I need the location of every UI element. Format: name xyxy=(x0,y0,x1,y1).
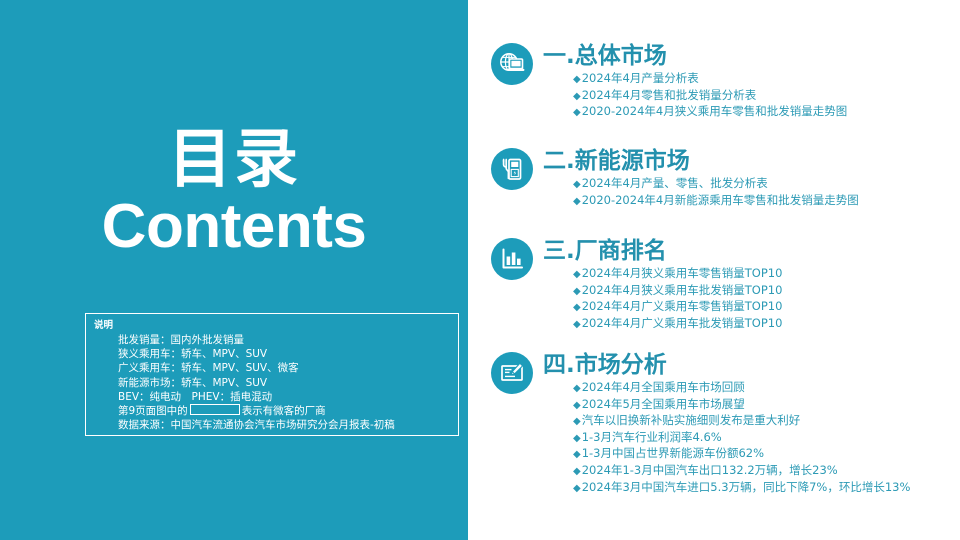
section-heading: 三.厂商排名 xyxy=(543,238,960,265)
section-bullet-list: ◆2024年4月产量分析表 ◆2024年4月零售和批发销量分析表 ◆2020-2… xyxy=(543,71,960,121)
bullet-item[interactable]: ◆2024年3月中国汽车进口5.3万辆，同比下降7%，环比增长13% xyxy=(573,480,960,497)
note-line-source: 数据来源：中国汽车流通协会汽车市场研究分会月报表-初稿 xyxy=(118,418,452,432)
charging-station-icon xyxy=(491,148,533,190)
bullet-label: 汽车以旧换新补贴实施细则发布是重大利好 xyxy=(582,413,801,427)
section-body: 二.新能源市场 ◆2024年4月产量、零售、批发分析表 ◆2020-2024年4… xyxy=(543,148,960,209)
bullet-item[interactable]: ◆2024年4月广义乘用车批发销量TOP10 xyxy=(573,316,960,333)
bullet-label: 2024年4月广义乘用车批发销量TOP10 xyxy=(582,316,783,330)
toc-section-manufacturer-ranking[interactable]: 三.厂商排名 ◆2024年4月狭义乘用车零售销量TOP10 ◆2024年4月狭义… xyxy=(491,238,960,332)
bar-chart-icon xyxy=(491,238,533,280)
bullet-item[interactable]: ◆2024年5月全国乘用车市场展望 xyxy=(573,397,960,414)
globe-laptop-icon xyxy=(491,43,533,85)
toc-section-market-analysis[interactable]: 四.市场分析 ◆2024年4月全国乘用车市场回顾 ◆2024年5月全国乘用车市场… xyxy=(491,352,960,496)
bullet-label: 2024年4月狭义乘用车零售销量TOP10 xyxy=(582,266,783,280)
bullet-item[interactable]: ◆汽车以旧换新补贴实施细则发布是重大利好 xyxy=(573,413,960,430)
diamond-bullet-icon: ◆ xyxy=(573,483,581,494)
bullet-item[interactable]: ◆2024年4月产量分析表 xyxy=(573,71,960,88)
section-bullet-list: ◆2024年4月产量、零售、批发分析表 ◆2020-2024年4月新能源乘用车零… xyxy=(543,176,960,209)
diamond-bullet-icon: ◆ xyxy=(573,91,581,102)
section-heading: 四.市场分析 xyxy=(543,352,960,379)
diamond-bullet-icon: ◆ xyxy=(573,302,581,313)
note-line-with-blank: 第9页面图中的表示有微客的厂商 xyxy=(118,404,452,418)
section-body: 四.市场分析 ◆2024年4月全国乘用车市场回顾 ◆2024年5月全国乘用车市场… xyxy=(543,352,960,496)
bullet-label: 2024年5月全国乘用车市场展望 xyxy=(582,397,745,411)
toc-panel: 一.总体市场 ◆2024年4月产量分析表 ◆2024年4月零售和批发销量分析表 … xyxy=(468,0,960,540)
note-line: 狭义乘用车：轿车、MPV、SUV xyxy=(118,347,452,361)
note-text-before-blank: 第9页面图中的 xyxy=(118,405,188,417)
bullet-item[interactable]: ◆2024年1-3月中国汽车出口132.2万辆，增长23% xyxy=(573,463,960,480)
toc-section-new-energy-market[interactable]: 二.新能源市场 ◆2024年4月产量、零售、批发分析表 ◆2020-2024年4… xyxy=(491,148,960,209)
document-pen-icon xyxy=(491,352,533,394)
bullet-item[interactable]: ◆2024年4月广义乘用车零售销量TOP10 xyxy=(573,299,960,316)
diamond-bullet-icon: ◆ xyxy=(573,269,581,280)
diamond-bullet-icon: ◆ xyxy=(573,383,581,394)
slide-canvas: 目录 Contents 说明 批发销量：国内外批发销量 狭义乘用车：轿车、MPV… xyxy=(0,0,960,540)
note-line: 广义乘用车：轿车、MPV、SUV、微客 xyxy=(118,361,452,375)
note-heading: 说明 xyxy=(94,319,452,332)
bullet-item[interactable]: ◆2024年4月狭义乘用车零售销量TOP10 xyxy=(573,266,960,283)
section-bullet-list: ◆2024年4月全国乘用车市场回顾 ◆2024年5月全国乘用车市场展望 ◆汽车以… xyxy=(543,380,960,496)
bullet-label: 2024年3月中国汽车进口5.3万辆，同比下降7%，环比增长13% xyxy=(582,480,911,494)
page-title-english: Contents xyxy=(0,191,468,262)
bullet-item[interactable]: ◆2024年4月全国乘用车市场回顾 xyxy=(573,380,960,397)
section-body: 三.厂商排名 ◆2024年4月狭义乘用车零售销量TOP10 ◆2024年4月狭义… xyxy=(543,238,960,332)
diamond-bullet-icon: ◆ xyxy=(573,466,581,477)
bullet-label: 2024年4月产量、零售、批发分析表 xyxy=(582,176,768,190)
bullet-item[interactable]: ◆1-3月中国占世界新能源车份额62% xyxy=(573,446,960,463)
bullet-item[interactable]: ◆2020-2024年4月新能源乘用车零售和批发销量走势图 xyxy=(573,193,960,210)
note-line: 新能源市场：轿车、MPV、SUV xyxy=(118,376,452,390)
bullet-item[interactable]: ◆2020-2024年4月狭义乘用车零售和批发销量走势图 xyxy=(573,104,960,121)
bullet-label: 2024年4月广义乘用车零售销量TOP10 xyxy=(582,299,783,313)
bullet-label: 1-3月中国占世界新能源车份额62% xyxy=(582,446,764,460)
note-line-list: 批发销量：国内外批发销量 狭义乘用车：轿车、MPV、SUV 广义乘用车：轿车、M… xyxy=(94,333,452,432)
bullet-label: 1-3月汽车行业利润率4.6% xyxy=(582,430,722,444)
bullet-label: 2020-2024年4月新能源乘用车零售和批发销量走势图 xyxy=(582,193,859,207)
bullet-item[interactable]: ◆2024年4月狭义乘用车批发销量TOP10 xyxy=(573,283,960,300)
section-body: 一.总体市场 ◆2024年4月产量分析表 ◆2024年4月零售和批发销量分析表 … xyxy=(543,43,960,121)
bullet-item[interactable]: ◆1-3月汽车行业利润率4.6% xyxy=(573,430,960,447)
diamond-bullet-icon: ◆ xyxy=(573,416,581,427)
diamond-bullet-icon: ◆ xyxy=(573,400,581,411)
diamond-bullet-icon: ◆ xyxy=(573,319,581,330)
diamond-bullet-icon: ◆ xyxy=(573,433,581,444)
diamond-bullet-icon: ◆ xyxy=(573,196,581,207)
legend-note-box: 说明 批发销量：国内外批发销量 狭义乘用车：轿车、MPV、SUV 广义乘用车：轿… xyxy=(85,313,459,436)
bullet-label: 2024年1-3月中国汽车出口132.2万辆，增长23% xyxy=(582,463,838,477)
diamond-bullet-icon: ◆ xyxy=(573,449,581,460)
section-bullet-list: ◆2024年4月狭义乘用车零售销量TOP10 ◆2024年4月狭义乘用车批发销量… xyxy=(543,266,960,332)
diamond-bullet-icon: ◆ xyxy=(573,107,581,118)
blank-placeholder-box xyxy=(190,404,240,415)
page-title-chinese: 目录 xyxy=(0,128,468,193)
diamond-bullet-icon: ◆ xyxy=(573,286,581,297)
note-line: 批发销量：国内外批发销量 xyxy=(118,333,452,347)
section-heading: 一.总体市场 xyxy=(543,43,960,70)
bullet-item[interactable]: ◆2024年4月产量、零售、批发分析表 xyxy=(573,176,960,193)
note-text-after-blank: 表示有微客的厂商 xyxy=(242,405,326,417)
toc-section-overall-market[interactable]: 一.总体市场 ◆2024年4月产量分析表 ◆2024年4月零售和批发销量分析表 … xyxy=(491,43,960,121)
bullet-item[interactable]: ◆2024年4月零售和批发销量分析表 xyxy=(573,88,960,105)
left-title-panel: 目录 Contents 说明 批发销量：国内外批发销量 狭义乘用车：轿车、MPV… xyxy=(0,0,468,540)
diamond-bullet-icon: ◆ xyxy=(573,179,581,190)
section-heading: 二.新能源市场 xyxy=(543,148,960,175)
note-line: BEV：纯电动 PHEV：插电混动 xyxy=(118,390,452,404)
diamond-bullet-icon: ◆ xyxy=(573,74,581,85)
bullet-label: 2024年4月全国乘用车市场回顾 xyxy=(582,380,745,394)
bullet-label: 2024年4月狭义乘用车批发销量TOP10 xyxy=(582,283,783,297)
title-block: 目录 Contents xyxy=(0,128,468,263)
bullet-label: 2024年4月产量分析表 xyxy=(582,71,699,85)
bullet-label: 2024年4月零售和批发销量分析表 xyxy=(582,88,757,102)
bullet-label: 2020-2024年4月狭义乘用车零售和批发销量走势图 xyxy=(582,104,848,118)
